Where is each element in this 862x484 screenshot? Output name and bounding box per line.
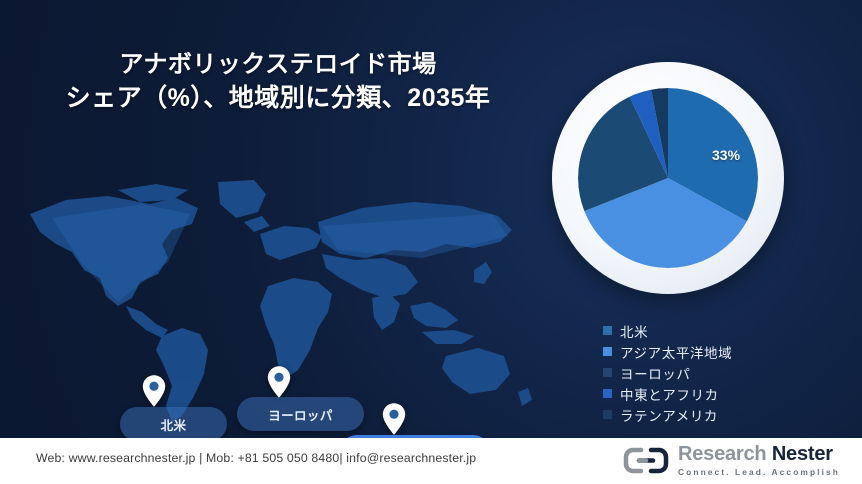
legend-swatch-icon — [603, 347, 612, 356]
logo-word-research: Research — [678, 443, 766, 465]
legend-label: アジア太平洋地域 — [620, 342, 732, 362]
footer-contact-text: Web: www.researchnester.jp | Mob: +81 50… — [36, 451, 476, 465]
map-pin-icon[interactable] — [141, 374, 167, 408]
legend-label: 中東とアフリカ — [620, 384, 719, 404]
pie-chart — [578, 88, 758, 268]
legend-item[interactable]: ヨーロッパ — [603, 362, 732, 383]
map-region-label[interactable]: 北米 — [120, 407, 227, 441]
legend-swatch-icon — [603, 368, 612, 377]
map-pin-icon[interactable] — [381, 402, 407, 436]
legend-item[interactable]: アジア太平洋地域 — [603, 341, 732, 362]
title-line-2: シェア（%）、地域別に分類、2035年 — [0, 81, 556, 116]
legend-item[interactable]: 北米 — [603, 320, 732, 341]
pie-slice-label-north-america: 33% — [712, 147, 740, 163]
logo-text: Research Nester Connect. Lead. Accomplis… — [678, 444, 840, 476]
legend-swatch-icon — [603, 410, 612, 419]
legend-label: ヨーロッパ — [620, 363, 691, 383]
map-region-label[interactable]: ヨーロッパ — [237, 397, 364, 431]
slide-title: アナボリックステロイド市場 シェア（%）、地域別に分類、2035年 — [0, 48, 556, 116]
title-line-1: アナボリックステロイド市場 — [0, 48, 556, 81]
pie-chart-ring — [552, 62, 784, 294]
logo-name: Research Nester — [678, 444, 840, 464]
logo-tagline: Connect. Lead. Accomplish — [678, 468, 840, 476]
slide-canvas: アナボリックステロイド市場 シェア（%）、地域別に分類、2035年 — [0, 0, 862, 484]
chart-legend: 北米アジア太平洋地域ヨーロッパ中東とアフリカラテンアメリカ — [603, 320, 732, 425]
legend-swatch-icon — [603, 389, 612, 398]
link-chain-icon — [623, 447, 669, 474]
legend-item[interactable]: ラテンアメリカ — [603, 404, 732, 425]
legend-swatch-icon — [603, 326, 612, 335]
legend-label: ラテンアメリカ — [620, 405, 718, 425]
brand-logo[interactable]: Research Nester Connect. Lead. Accomplis… — [623, 444, 840, 476]
footer: Web: www.researchnester.jp | Mob: +81 50… — [0, 438, 862, 484]
logo-word-nester: Nester — [772, 443, 833, 465]
legend-label: 北米 — [620, 321, 648, 341]
pie-chart-svg — [578, 88, 758, 268]
world-map: 北米ヨーロッパアジア太平洋地域中東とアフリカラテンアメリカ — [22, 178, 542, 428]
map-pin-icon[interactable] — [266, 365, 292, 399]
legend-item[interactable]: 中東とアフリカ — [603, 383, 732, 404]
